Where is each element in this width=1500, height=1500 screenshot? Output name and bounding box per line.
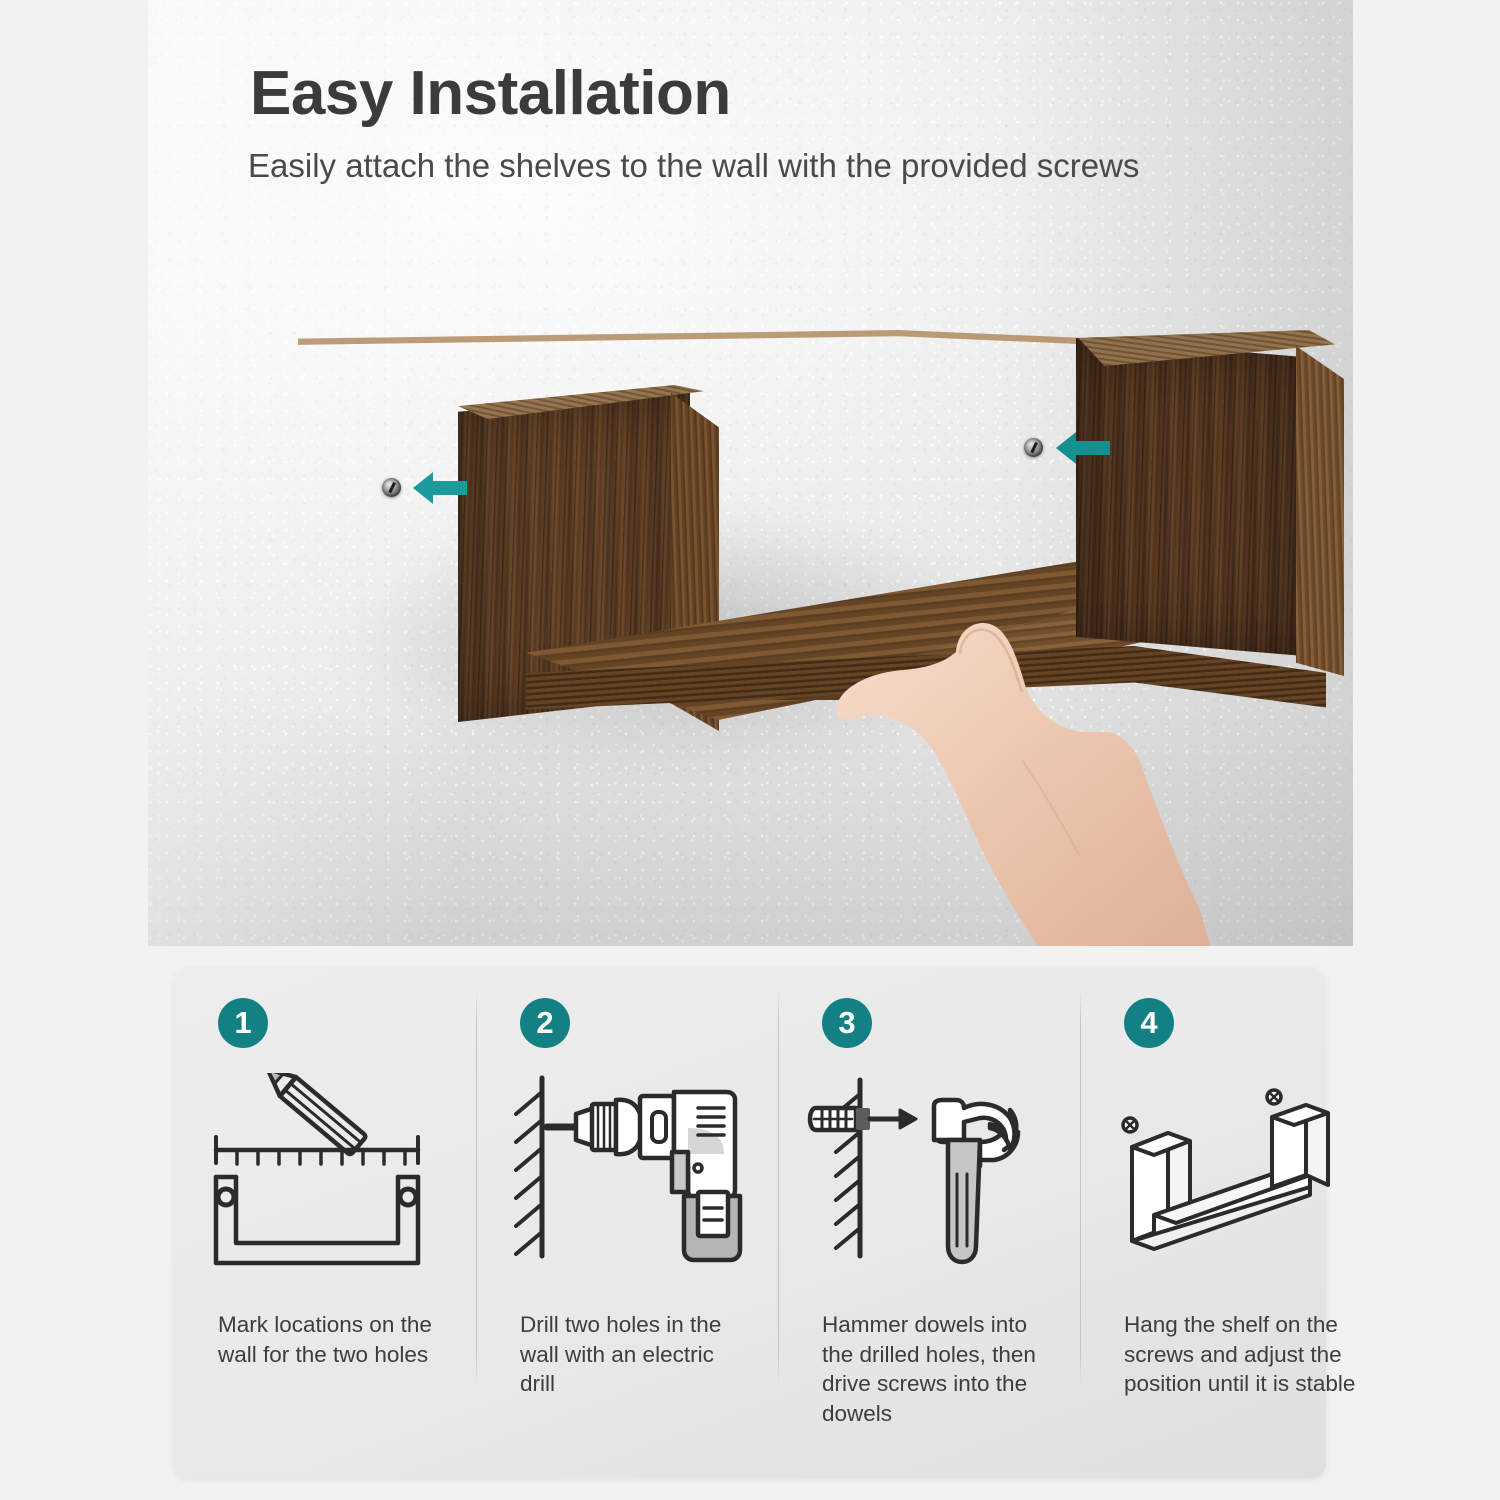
step-1-badge: 1 (218, 998, 268, 1048)
arrow-right-icon (1054, 428, 1112, 468)
mounted-shelf-icon (1106, 1054, 1356, 1306)
page-title: Easy Installation (250, 58, 731, 129)
hand-holding-shelf (808, 580, 1238, 946)
step-4: 4 (1080, 968, 1382, 1478)
shelf-right-panel-side-edge (1296, 346, 1344, 676)
step-1: 1 (174, 968, 476, 1478)
step-4-badge: 4 (1124, 998, 1174, 1048)
step-1-caption: Mark locations on the wall for the two h… (218, 1310, 450, 1369)
step-3-caption: Hammer dowels into the drilled holes, th… (822, 1310, 1054, 1429)
hero-product-photo: Easy Installation Easily attach the shel… (148, 0, 1353, 946)
installation-steps-panel: 1 (174, 968, 1326, 1478)
wall-screw-right (1024, 438, 1043, 457)
pencil-and-ruler-icon (200, 1054, 450, 1306)
electric-drill-icon (502, 1054, 752, 1306)
step-2-caption: Drill two holes in the wall with an elec… (520, 1310, 752, 1399)
step-4-caption: Hang the shelf on the screws and adjust … (1124, 1310, 1356, 1399)
step-2-badge: 2 (520, 998, 570, 1048)
shelf-deck-edge-highlight (298, 330, 1088, 354)
dowel-and-hammer-icon (804, 1054, 1054, 1306)
wall-screw-left (382, 478, 401, 497)
arrow-left-icon (411, 468, 469, 508)
step-3: 3 (778, 968, 1080, 1478)
page-subtitle: Easily attach the shelves to the wall wi… (248, 147, 1139, 185)
step-2: 2 (476, 968, 778, 1478)
infographic-canvas: Easy Installation Easily attach the shel… (0, 0, 1500, 1500)
step-3-badge: 3 (822, 998, 872, 1048)
